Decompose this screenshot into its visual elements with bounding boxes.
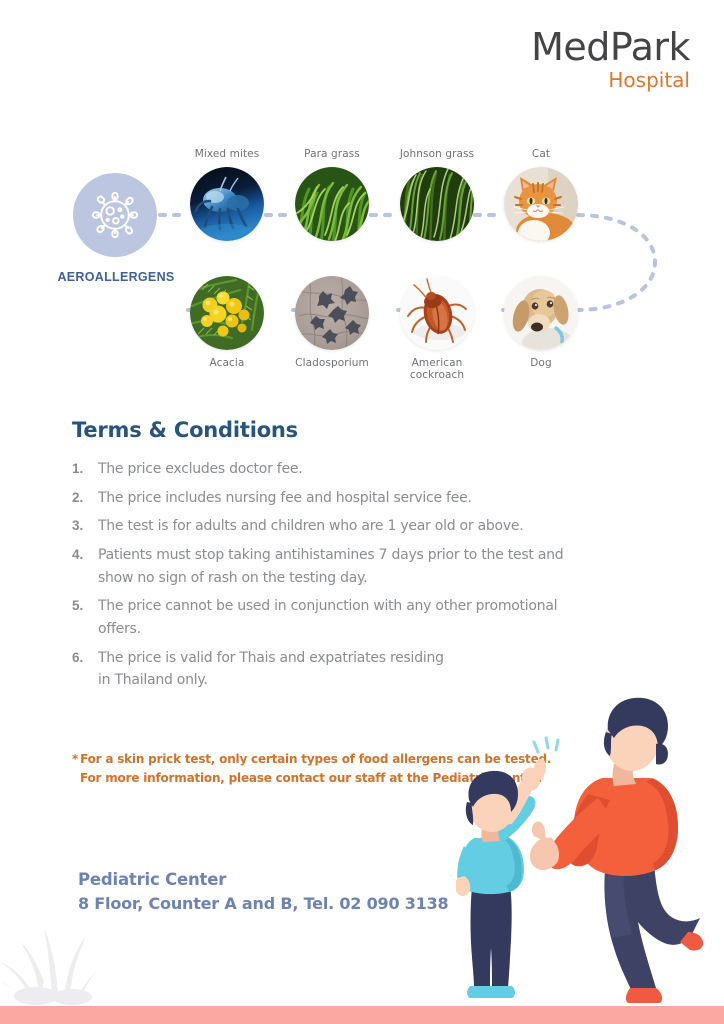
allergen-node-american-cockroach[interactable]: American cockroach — [383, 276, 491, 381]
allergen-caption: Mixed mites — [173, 148, 281, 160]
allergen-caption: American cockroach — [383, 357, 491, 381]
allergen-node-mixed-mites[interactable]: Mixed mites — [173, 148, 281, 241]
term-item: 4. Patients must stop taking antihistami… — [72, 544, 632, 589]
footnote-asterisk: * — [72, 752, 78, 766]
allergen-thumb-acacia — [190, 276, 264, 350]
term-text: The price excludes doctor fee. — [98, 458, 302, 481]
term-number: 3. — [72, 515, 98, 537]
aeroallergens-badge — [73, 173, 157, 257]
term-text: The price is valid for Thais and expatri… — [98, 647, 444, 692]
dust-mite-microscope-photo — [190, 167, 264, 241]
allergen-caption: Cladosporium — [278, 357, 386, 369]
child-figure — [456, 759, 546, 998]
contact-center-name: Pediatric Center — [78, 868, 448, 892]
terms-title: Terms & Conditions — [72, 418, 632, 442]
allergen-thumb-cat — [504, 167, 578, 241]
logo-hospital-text: Hospital — [531, 66, 690, 94]
logo-park-text: Park — [610, 25, 690, 69]
aeroallergens-diagram: AEROALLERGENS Mixed mites — [0, 148, 724, 393]
term-line-1: The price is valid for Thais and expatri… — [98, 650, 444, 666]
term-item: 2. The price includes nursing fee and ho… — [72, 487, 632, 510]
tan-puppy-photo — [504, 276, 578, 350]
allergen-node-cladosporium[interactable]: Cladosporium — [278, 276, 386, 369]
allergen-caption: Acacia — [173, 357, 281, 369]
american-cockroach-photo — [400, 276, 474, 350]
allergen-caption: Cat — [487, 148, 595, 160]
term-item: 3. The test is for adults and children w… — [72, 515, 632, 538]
term-number: 1. — [72, 458, 98, 480]
allergen-thumb-johnson-grass — [400, 167, 474, 241]
allergen-node-acacia[interactable]: Acacia — [173, 276, 281, 369]
logo-wordmark: MedPark — [531, 28, 690, 66]
adult-and-child-high-five-illustration — [456, 686, 706, 1006]
term-line-1: The price excludes doctor fee. — [98, 461, 302, 477]
cladosporium-mold-microscope-photo — [295, 276, 369, 350]
acacia-yellow-flowers-photo — [190, 276, 264, 350]
para-grass-photo — [295, 167, 369, 241]
term-text: The price includes nursing fee and hospi… — [98, 487, 472, 510]
allergen-thumb-cladosporium — [295, 276, 369, 350]
terms-section: Terms & Conditions 1. The price excludes… — [72, 418, 632, 698]
term-text: Patients must stop taking antihistamines… — [98, 544, 563, 589]
allergen-node-para-grass[interactable]: Para grass — [278, 148, 386, 241]
term-line-1: The price includes nursing fee and hospi… — [98, 490, 472, 506]
term-number: 5. — [72, 595, 98, 617]
orange-tabby-cat-photo — [504, 167, 578, 241]
allergen-caption: Johnson grass — [383, 148, 491, 160]
bottom-accent-bar — [0, 1006, 724, 1024]
allergen-thumb-american-cockroach — [400, 276, 474, 350]
term-text: The test is for adults and children who … — [98, 515, 523, 538]
allergen-thumb-mixed-mites — [190, 167, 264, 241]
term-number: 4. — [72, 544, 98, 566]
term-line-2: in Thailand only. — [98, 669, 444, 692]
allergen-node-cat[interactable]: Cat — [487, 148, 595, 241]
johnson-grass-photo — [400, 167, 474, 241]
allergen-caption: Dog — [487, 357, 595, 369]
allergen-caption: Para grass — [278, 148, 386, 160]
grass-plant-watermark — [0, 916, 120, 1006]
term-text: The price cannot be used in conjunction … — [98, 595, 557, 640]
contact-address-phone: 8 Floor, Counter A and B, Tel. 02 090 31… — [78, 892, 448, 915]
high-five-spark-icon — [534, 738, 558, 752]
logo-med-text: Med — [531, 25, 610, 69]
term-number: 6. — [72, 647, 98, 669]
allergen-thumb-para-grass — [295, 167, 369, 241]
term-number: 2. — [72, 487, 98, 509]
aeroallergens-label: AEROALLERGENS — [52, 270, 180, 284]
allergen-node-johnson-grass[interactable]: Johnson grass — [383, 148, 491, 241]
term-line-2: show no sign of rash on the testing day. — [98, 567, 563, 590]
brand-logo: MedPark Hospital — [531, 28, 690, 94]
term-item: 1. The price excludes doctor fee. — [72, 458, 632, 481]
allergen-node-dog[interactable]: Dog — [487, 276, 595, 369]
term-line-1: The test is for adults and children who … — [98, 518, 523, 534]
term-line-2: offers. — [98, 618, 557, 641]
term-item: 5. The price cannot be used in conjuncti… — [72, 595, 632, 640]
contact-block: Pediatric Center 8 Floor, Counter A and … — [78, 868, 448, 915]
allergen-thumb-dog — [504, 276, 578, 350]
term-line-1: Patients must stop taking antihistamines… — [98, 547, 563, 563]
virus-allergen-icon — [89, 189, 141, 241]
term-line-1: The price cannot be used in conjunction … — [98, 598, 557, 614]
